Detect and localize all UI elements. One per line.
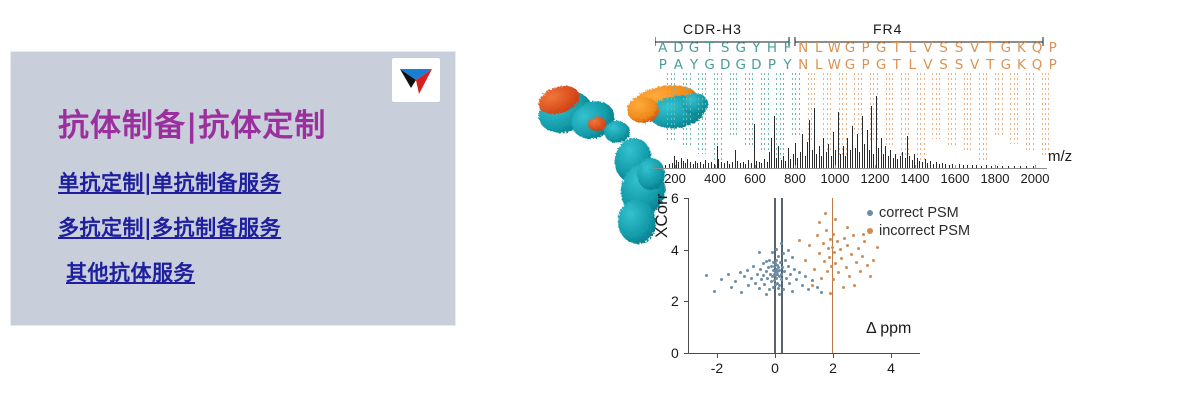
scatter-point-correct — [765, 270, 768, 273]
scatter-point-correct — [730, 286, 733, 289]
spectrum-peak — [705, 160, 706, 168]
scatter-point-correct — [759, 268, 762, 271]
scatter-point-correct — [782, 252, 785, 255]
sequence-residue: T — [982, 57, 998, 73]
scatter-point-correct — [778, 269, 781, 272]
fragment-ion-connector — [1048, 73, 1049, 158]
mz-tick-label: 2000 — [1021, 171, 1050, 186]
scatter-point-incorrect — [845, 266, 848, 269]
scatter-point-incorrect — [813, 268, 816, 271]
spectrum-peak — [793, 154, 794, 168]
spectrum-peak — [809, 120, 810, 168]
sequence-residue: S — [717, 40, 733, 56]
sequence-residue: N — [795, 40, 811, 56]
scatter-point-incorrect — [816, 234, 819, 237]
scatter-x-tick — [717, 353, 718, 358]
legend-swatch-correct-icon — [867, 210, 873, 216]
sequence-residue: T — [889, 40, 905, 56]
scatter-legend: correct PSM incorrect PSM — [867, 204, 970, 240]
scatter-point-correct — [743, 275, 746, 278]
spectrum-peak — [855, 148, 856, 168]
scatter-point-incorrect — [855, 261, 858, 264]
scatter-point-incorrect — [832, 233, 835, 236]
sequence-residue: Q — [1029, 57, 1045, 73]
spectrum-peak — [845, 156, 846, 168]
sequence-residue: G — [842, 57, 858, 73]
scatter-point-correct — [793, 268, 796, 271]
scatter-point-correct — [789, 273, 792, 276]
sequence-residue: P — [655, 57, 671, 73]
spectrum-peak — [828, 144, 829, 168]
mz-tick — [755, 165, 756, 169]
scatter-point-correct — [746, 269, 749, 272]
spectrum-peak — [840, 154, 841, 168]
spectrum-peak — [871, 106, 872, 168]
spectrum-peak — [802, 134, 803, 168]
sequence-residue: G — [733, 57, 749, 73]
scatter-point-correct — [798, 271, 801, 274]
scatter-point-incorrect — [829, 292, 832, 295]
spectrum-peak — [881, 138, 882, 168]
spectrum-peak — [833, 132, 834, 168]
sequence-residue: P — [858, 57, 874, 73]
mz-tick — [715, 165, 716, 169]
scatter-point-correct — [752, 265, 755, 268]
spectrum-peak — [883, 154, 884, 168]
spectrum-peak — [737, 161, 738, 168]
scatter-y-tick — [684, 198, 688, 199]
mz-tick-label: 1400 — [901, 171, 930, 186]
spectrum-peak — [857, 134, 858, 168]
scatter-y-tick — [684, 250, 688, 251]
spectrum-peak — [769, 152, 770, 168]
sequence-row-1: ADGTSGYHFNLWGPGTLVSSVTGKQP — [655, 40, 1060, 56]
scatter-y-axis-label: XCorr — [652, 194, 672, 238]
scatter-point-correct — [820, 291, 823, 294]
scatter-point-incorrect — [818, 252, 821, 255]
spectrum-peak — [764, 159, 765, 168]
scatter-x-axis-label: Δ ppm — [866, 320, 911, 338]
scatter-point-correct — [780, 278, 783, 281]
spectrum-peak — [814, 108, 815, 168]
spectrum-peak — [781, 160, 782, 168]
sequence-residue: A — [655, 40, 671, 56]
scatter-x-axis — [688, 353, 920, 354]
mz-tick — [795, 165, 796, 169]
scatter-point-correct — [758, 251, 761, 254]
scatter-point-correct — [734, 280, 737, 283]
scatter-x-tick — [891, 353, 892, 358]
scatter-y-tick-label: 4 — [671, 242, 679, 258]
sequence-residue: G — [998, 40, 1014, 56]
scatter-y-tick-label: 6 — [671, 190, 679, 206]
scatter-point-correct — [739, 271, 742, 274]
spectrum-peak — [859, 152, 860, 168]
sequence-residue: Y — [780, 57, 796, 73]
scatter-point-incorrect — [822, 242, 825, 245]
scatter-point-incorrect — [863, 240, 866, 243]
mz-tick-label: 1000 — [821, 171, 850, 186]
spectrum-peak — [852, 126, 853, 168]
scatter-point-correct — [781, 266, 784, 269]
scatter-point-incorrect — [840, 257, 843, 260]
sequence-residue: T — [982, 40, 998, 56]
sequence-residue: D — [717, 57, 733, 73]
spectrum-peak — [878, 148, 879, 168]
sequence-residue: T — [889, 57, 905, 73]
mz-tick — [875, 165, 876, 169]
scatter-point-incorrect — [820, 277, 823, 280]
spectrum-peak — [838, 112, 839, 168]
scatter-point-correct — [763, 283, 766, 286]
mz-tick-label: 1600 — [941, 171, 970, 186]
scatter-point-correct — [795, 278, 798, 281]
scatter-point-incorrect — [811, 284, 814, 287]
sequence-residue: Q — [1029, 40, 1045, 56]
scatter-point-incorrect — [826, 270, 829, 273]
sequence-residue: D — [749, 57, 765, 73]
spectrum-peak — [917, 158, 918, 168]
spectrum-peak — [727, 161, 728, 168]
scatter-point-correct — [771, 251, 774, 254]
scatter-point-correct — [750, 277, 753, 280]
sequence-residue: W — [827, 40, 843, 56]
scatter-point-correct — [768, 259, 771, 262]
scatter-point-incorrect — [872, 259, 875, 262]
spectrum-peak — [800, 152, 801, 168]
scatter-point-incorrect — [842, 286, 845, 289]
scatter-x-tick-label: 2 — [829, 360, 837, 376]
scatter-point-incorrect — [850, 253, 853, 256]
sequence-residue: H — [764, 40, 780, 56]
sequence-residue: Y — [686, 57, 702, 73]
sequence-row-2: PAYGDGDPYNLWGPGTLVSSVTGKQP — [655, 57, 1060, 73]
spectrum-peak — [895, 154, 896, 168]
spectrum-peak — [909, 156, 910, 168]
scatter-point-incorrect — [827, 247, 830, 250]
mz-tick-label: 1200 — [861, 171, 890, 186]
spectrum-peak — [925, 159, 926, 168]
legend-item-correct: correct PSM — [867, 204, 970, 222]
spectrum-peak — [823, 138, 824, 168]
spectrum-peak — [807, 142, 808, 168]
scatter-point-correct — [780, 273, 783, 276]
scatter-point-correct — [791, 256, 794, 259]
scatter-point-incorrect — [861, 255, 864, 258]
scatter-point-incorrect — [839, 248, 842, 251]
spectrum-peak — [695, 161, 696, 168]
sequence-residue: G — [873, 57, 889, 73]
scatter-point-correct — [787, 249, 790, 252]
spectrum-peak — [905, 158, 906, 168]
spectrum-peak — [876, 96, 877, 168]
domain-label-cdr-h3: CDR-H3 — [683, 21, 742, 37]
legend-label-incorrect: incorrect PSM — [879, 223, 970, 239]
scatter-y-axis — [688, 198, 689, 353]
scatter-point-correct — [740, 291, 743, 294]
spectrum-peak — [919, 161, 920, 168]
legend-label-correct: correct PSM — [879, 205, 959, 221]
legend-swatch-incorrect-icon — [867, 228, 873, 234]
spectrum-peak — [748, 160, 749, 168]
scatter-x-tick-label: -2 — [711, 360, 723, 376]
scatter-point-correct — [788, 282, 791, 285]
spectrum-peak — [783, 156, 784, 168]
spectrum-peak — [805, 156, 806, 168]
sequence-residue: Y — [749, 40, 765, 56]
spectrum-peak — [900, 156, 901, 168]
spectrum-peak — [890, 150, 891, 168]
sequence-residue: A — [671, 57, 687, 73]
scatter-point-correct — [762, 262, 765, 265]
scatter-point-correct — [816, 286, 819, 289]
scatter-point-correct — [784, 259, 787, 262]
mass-spectrum-plot — [655, 90, 1045, 168]
sequence-residue: K — [1014, 57, 1030, 73]
sequence-residue: L — [811, 57, 827, 73]
scatter-y-tick-label: 0 — [671, 345, 679, 361]
scatter-point-correct — [758, 287, 761, 290]
sequence-residue: S — [951, 57, 967, 73]
scatter-point-incorrect — [830, 265, 833, 268]
scatter-point-correct — [811, 279, 814, 282]
spectrum-peak — [785, 161, 786, 168]
sequence-residue: W — [827, 57, 843, 73]
sequence-residue: F — [780, 40, 796, 56]
sequence-residue: V — [920, 57, 936, 73]
sequence-residue: D — [671, 40, 687, 56]
scatter-point-correct — [772, 286, 775, 289]
scatter-point-incorrect — [831, 246, 834, 249]
spectrum-peak — [718, 159, 719, 168]
scatter-point-incorrect — [846, 244, 849, 247]
scatter-point-incorrect — [804, 259, 807, 262]
spectrum-peak — [826, 152, 827, 168]
scatter-point-incorrect — [798, 239, 801, 242]
scatter-point-incorrect — [836, 240, 839, 243]
scatter-point-incorrect — [843, 237, 846, 240]
spectrum-peak — [907, 136, 908, 168]
spectrum-peak — [687, 159, 688, 168]
sequence-residue: L — [811, 40, 827, 56]
scatter-point-incorrect — [834, 262, 837, 265]
spectrum-peak — [869, 150, 870, 168]
spectrum-peak — [681, 158, 682, 168]
spectrum-peak — [790, 159, 791, 168]
spectrum-peak — [912, 160, 913, 168]
mz-tick — [915, 165, 916, 169]
sequence-residue: S — [951, 40, 967, 56]
scatter-point-correct — [760, 278, 763, 281]
scatter-point-correct — [787, 265, 790, 268]
scatter-point-correct — [775, 259, 778, 262]
mz-tick — [995, 165, 996, 169]
scatter-x-tick — [833, 353, 834, 358]
scatter-point-incorrect — [828, 256, 831, 259]
scatter-point-correct — [775, 248, 778, 251]
scatter-point-incorrect — [869, 275, 872, 278]
sequence-residue: G — [733, 40, 749, 56]
scatter-point-incorrect — [824, 212, 827, 215]
sequence-residue: P — [858, 40, 874, 56]
scatter-point-correct — [705, 274, 708, 277]
mz-tick-label: 800 — [784, 171, 806, 186]
spectrum-peak — [819, 146, 820, 168]
spectrum-peak — [735, 150, 736, 168]
scatter-point-correct — [804, 275, 807, 278]
mz-tick — [835, 165, 836, 169]
scatter-point-correct — [783, 270, 786, 273]
sequence-residue: P — [764, 57, 780, 73]
promo-link-monoclonal[interactable]: 单抗定制|单抗制备服务 — [58, 167, 281, 197]
mz-tick-label: 400 — [704, 171, 726, 186]
spectrum-peak — [862, 116, 863, 168]
spectrum-peak — [930, 161, 931, 168]
mz-axis — [653, 168, 1047, 169]
scatter-point-correct — [747, 284, 750, 287]
sequence-residue: G — [686, 40, 702, 56]
scatter-point-incorrect — [862, 233, 865, 236]
scatter-point-correct — [777, 287, 780, 290]
spectrum-peak — [847, 138, 848, 168]
spectrum-peak — [778, 146, 779, 168]
sequence-residue: G — [873, 40, 889, 56]
scatter-point-correct — [807, 288, 810, 291]
scatter-point-incorrect — [859, 270, 862, 273]
scatter-point-correct — [777, 255, 780, 258]
scatter-y-tick — [684, 353, 688, 354]
scatter-x-tick-label: 0 — [771, 360, 779, 376]
scatter-point-incorrect — [866, 264, 869, 267]
spectrum-peak — [831, 156, 832, 168]
sequence-residue: V — [967, 57, 983, 73]
mz-axis-title: m/z — [1048, 148, 1072, 165]
sequence-residue: N — [795, 57, 811, 73]
sequence-residue: T — [702, 40, 718, 56]
spectrum-peak — [812, 150, 813, 168]
scatter-x-tick — [775, 353, 776, 358]
spectrum-peak — [797, 158, 798, 168]
spectrum-peak — [888, 156, 889, 168]
mz-tick — [675, 165, 676, 169]
spectrum-peak — [893, 158, 894, 168]
scatter-point-correct — [801, 284, 804, 287]
scatter-point-incorrect — [825, 229, 828, 232]
scatter-point-correct — [780, 242, 783, 245]
promo-link-other-services[interactable]: 其他抗体服务 — [66, 257, 195, 287]
scatter-point-correct — [782, 288, 785, 291]
scatter-point-correct — [720, 278, 723, 281]
spectrum-peak — [897, 159, 898, 168]
scatter-point-incorrect — [852, 234, 855, 237]
scatter-point-incorrect — [857, 247, 860, 250]
scatter-point-correct — [727, 273, 730, 276]
spectrum-peak — [776, 158, 777, 168]
sequence-residue: G — [702, 57, 718, 73]
scatter-point-correct — [754, 282, 757, 285]
sequence-residue: G — [998, 57, 1014, 73]
sequence-residue: V — [920, 40, 936, 56]
scatter-y-tick — [684, 301, 688, 302]
scatter-point-incorrect — [834, 218, 837, 221]
scatter-threshold-line — [832, 198, 834, 353]
sequence-residue: L — [905, 57, 921, 73]
sequence-residue: S — [936, 57, 952, 73]
spectrum-peak — [683, 161, 684, 168]
promo-panel: 抗体制备|抗体定制 单抗定制|单抗制备服务 多抗定制|多抗制备服务 其他抗体服务 — [11, 52, 455, 325]
spectrum-peak — [816, 154, 817, 168]
domain-label-fr4: FR4 — [873, 21, 902, 37]
sequence-residue: P — [1045, 57, 1061, 73]
scatter-point-correct — [756, 273, 759, 276]
mz-tick-label: 200 — [664, 171, 686, 186]
scatter-point-incorrect — [837, 271, 840, 274]
spectrum-peak — [885, 146, 886, 168]
page-title: 抗体制备|抗体定制 — [58, 100, 326, 145]
scatter-point-incorrect — [832, 278, 835, 281]
mz-tick — [955, 165, 956, 169]
fragment-ion-connector — [1045, 73, 1046, 158]
scatter-point-correct — [766, 277, 769, 280]
mz-tick-label: 600 — [744, 171, 766, 186]
promo-link-polyclonal[interactable]: 多抗定制|多抗制备服务 — [58, 212, 281, 242]
spectrum-peak — [771, 138, 772, 168]
scatter-point-correct — [768, 288, 771, 291]
scatter-point-correct — [765, 293, 768, 296]
spectrum-peak — [864, 144, 865, 168]
spectrum-peak — [867, 130, 868, 168]
scatter-point-incorrect — [818, 221, 821, 224]
scatter-point-incorrect — [823, 260, 826, 263]
sequence-residue: P — [1045, 40, 1061, 56]
spectrum-peak — [754, 124, 755, 168]
scatter-point-incorrect — [876, 246, 879, 249]
legend-item-incorrect: incorrect PSM — [867, 222, 970, 240]
spectrum-peak — [774, 116, 775, 168]
sequence-residue: S — [936, 40, 952, 56]
research-figure: CDR-H3 FR4 ADGTSGYHFNLWGPGTLVSSVTGKQP PA… — [505, 0, 1200, 400]
scatter-point-incorrect — [808, 244, 811, 247]
scatter-point-incorrect — [833, 251, 836, 254]
scatter-point-correct — [791, 290, 794, 293]
scatter-point-incorrect — [853, 284, 856, 287]
scatter-point-incorrect — [848, 275, 851, 278]
scatter-point-correct — [762, 274, 765, 277]
scatter-x-tick-label: 4 — [887, 360, 895, 376]
mz-tick — [1035, 165, 1036, 169]
spectrum-peak — [902, 152, 903, 168]
scatter-point-incorrect — [846, 226, 849, 229]
scatter-point-correct — [713, 290, 716, 293]
spectrum-peak — [821, 156, 822, 168]
scatter-point-correct — [785, 277, 788, 280]
sequence-residue: V — [967, 40, 983, 56]
mz-tick-label: 1800 — [981, 171, 1010, 186]
sequence-residue: K — [1014, 40, 1030, 56]
scatter-y-tick-label: 2 — [671, 293, 679, 309]
spectrum-peak — [850, 150, 851, 168]
spectrum-peak — [843, 146, 844, 168]
sequence-residue: L — [905, 40, 921, 56]
spectrum-peak — [788, 148, 789, 168]
sequence-residue: G — [842, 40, 858, 56]
company-logo-icon[interactable] — [392, 58, 440, 102]
